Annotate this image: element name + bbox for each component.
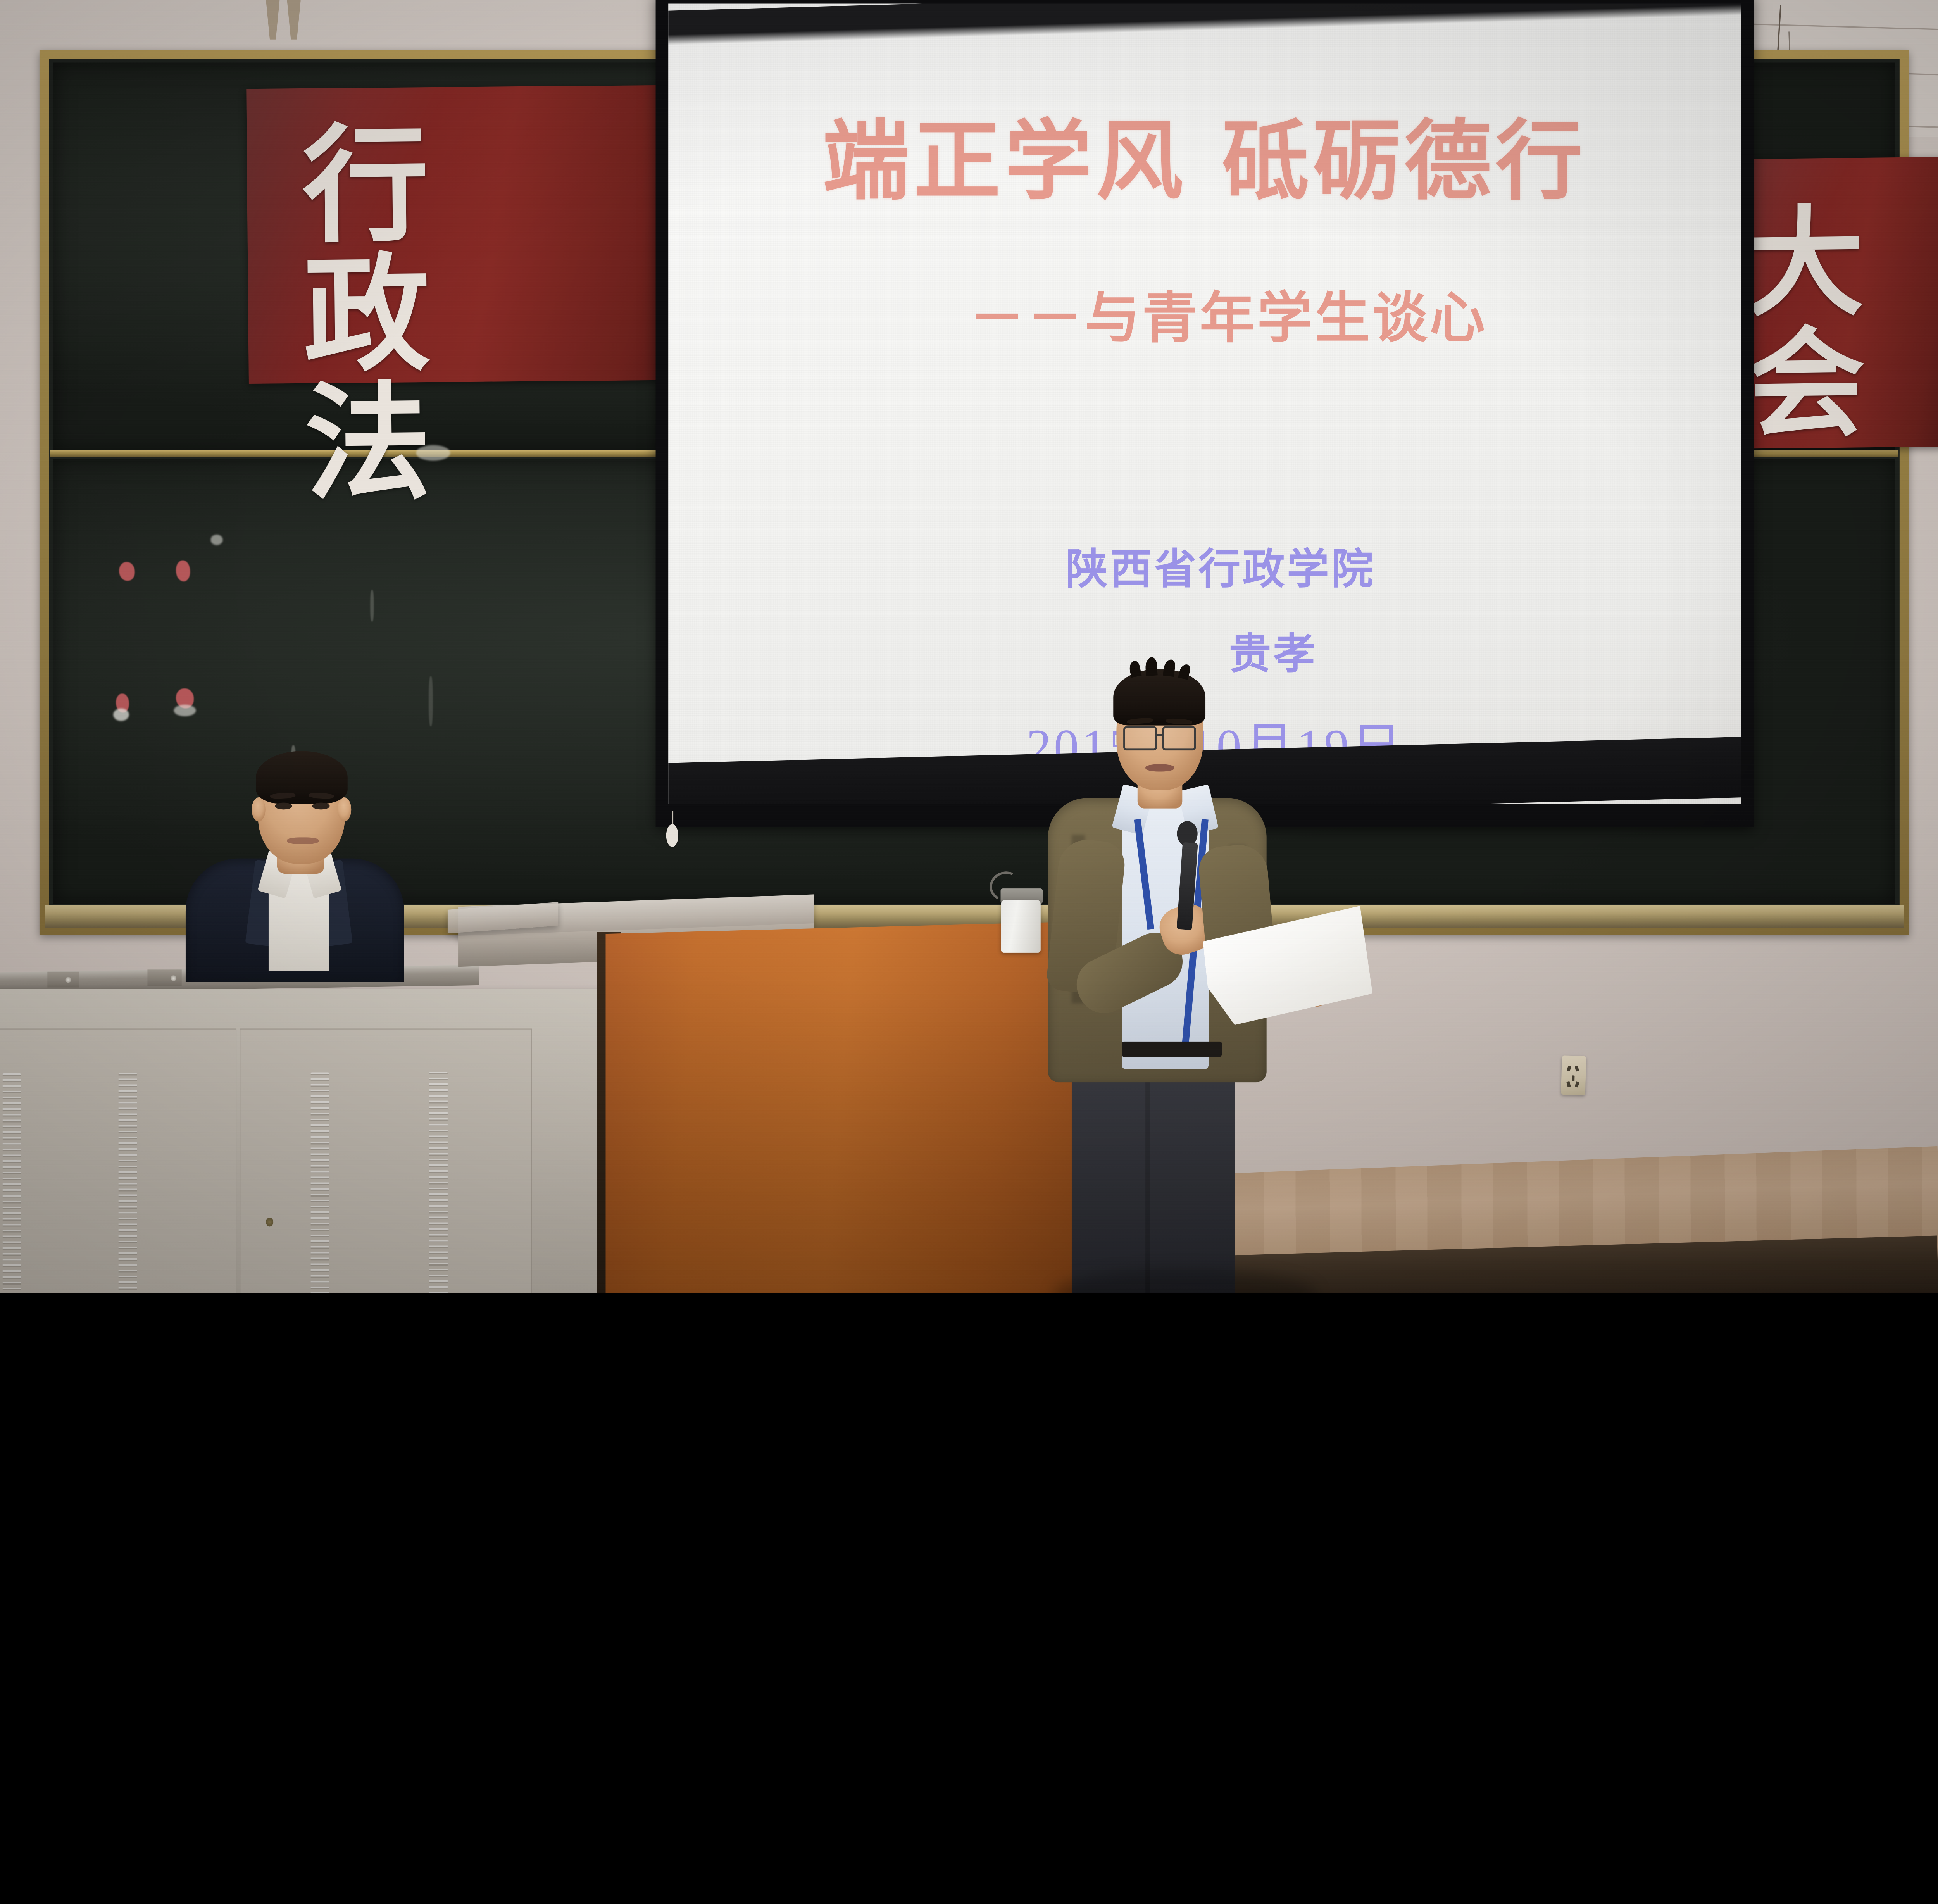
banner-char: 大 (1745, 202, 1869, 324)
banner-left-text: 行政法 (302, 121, 437, 509)
slide-title: 端正学风 砥砺德行 (822, 91, 1587, 217)
cabinet-keyhole[interactable] (266, 1218, 273, 1226)
seated-ear-left (252, 797, 265, 822)
rail-screw-1 (65, 977, 71, 983)
chalk-mark-red-1 (119, 562, 135, 581)
chalk-smudge-3 (210, 535, 222, 545)
banner-char: 行 (302, 121, 434, 251)
glasses-lens-right (1162, 726, 1196, 751)
cabinet-louver-1 (3, 1073, 21, 1293)
speaker-belt (1122, 1042, 1222, 1057)
rail-block-2 (147, 969, 181, 986)
glasses-lens-left (1123, 726, 1157, 751)
chalk-smudge-2 (174, 705, 196, 716)
speaker-mouth (1145, 764, 1174, 771)
outlet-hole-l1 (1567, 1066, 1571, 1071)
storage-cabinet[interactable] (0, 989, 600, 1293)
rail-screw-2 (171, 975, 176, 981)
seated-eye-left (275, 803, 292, 810)
speaker-trouser-seam (1145, 1072, 1150, 1293)
chalk-streak-2 (370, 590, 374, 622)
seated-eye-right (312, 803, 330, 810)
cabinet-louver-4 (429, 1072, 448, 1293)
seated-mouth (287, 837, 319, 844)
lectern[interactable] (606, 921, 1093, 1293)
cabinet-door-right[interactable] (240, 1029, 532, 1293)
outlet-hole-l2 (1575, 1066, 1579, 1071)
outlet-hole-center (1572, 1075, 1574, 1081)
banner-char: 会 (1746, 323, 1871, 445)
banner-char: 法 (304, 379, 437, 509)
outlet-hole-b2 (1575, 1081, 1579, 1087)
speaker (1022, 635, 1369, 1293)
slide-subtitle: －－与青年学生谈心 (922, 273, 1487, 353)
seated-ear-right (338, 797, 351, 822)
speaker-hair-spike-2 (1145, 657, 1158, 676)
outlet-hole-b1 (1566, 1081, 1571, 1087)
lecture-hall-scene: 行政法 大会 端正学风 砥砺德行 －－与青年学生谈心 陕西省行政学院 贵孝 20… (0, 0, 1938, 1293)
chalk-streak-3 (429, 676, 433, 726)
slide-organization: 陕西省行政学院 (1034, 535, 1375, 596)
chalk-smudge-1 (113, 708, 129, 721)
speaker-hair-spike-3 (1163, 659, 1176, 677)
wall-outlet[interactable] (1561, 1055, 1586, 1095)
banner-char: 政 (303, 250, 436, 380)
chalk-mark-red-2 (176, 561, 190, 581)
cabinet-louver-3 (311, 1072, 329, 1293)
banner-right: 大会 (1726, 157, 1938, 449)
lectern-shading (606, 921, 1093, 1293)
speaker-trousers (1072, 1048, 1235, 1293)
glasses-bridge (1156, 734, 1164, 736)
speaker-hair (1113, 669, 1205, 726)
banner-left: 行政法 (246, 85, 694, 384)
cabinet-louver-2 (119, 1073, 137, 1293)
seated-official (163, 732, 453, 969)
screen-pull-tag[interactable] (666, 824, 678, 847)
banner-right-text: 大会 (1745, 202, 1870, 445)
rail-block-1 (47, 972, 79, 988)
